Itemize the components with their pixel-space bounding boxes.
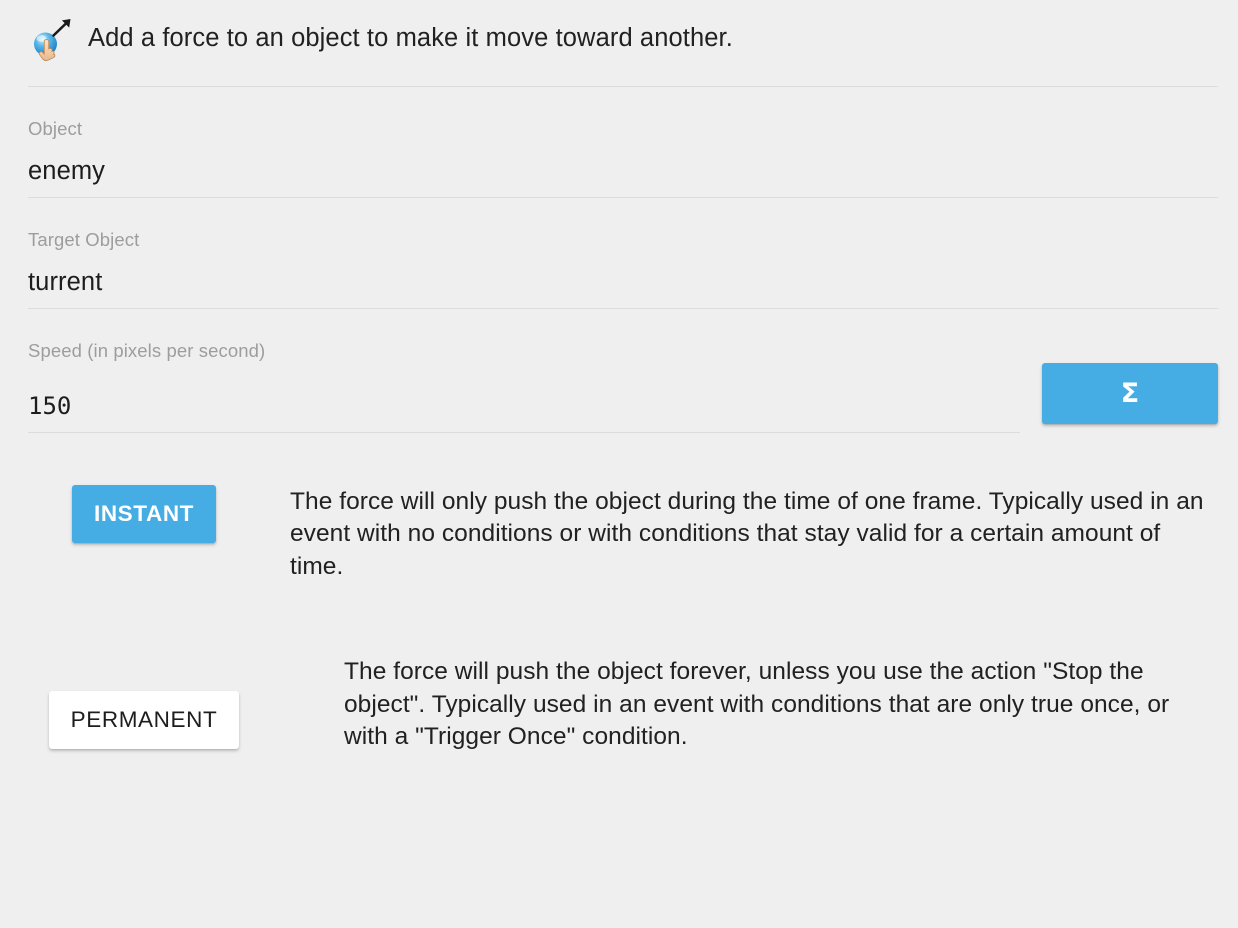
field-label-speed: Speed (in pixels per second) [28, 340, 1218, 362]
page-title: Add a force to an object to make it move… [88, 23, 733, 54]
object-input[interactable]: enemy [28, 140, 1218, 197]
field-label-target-object: Target Object [28, 229, 1218, 251]
field-speed: Speed (in pixels per second) 150 Σ [28, 309, 1218, 432]
dialog-header: Add a force to an object to make it move… [0, 0, 1238, 60]
sigma-icon[interactable]: Σ [1042, 363, 1218, 424]
form-fields: Object enemy Target Object turrent Speed… [0, 87, 1238, 433]
permanent-button[interactable]: PERMANENT [49, 691, 240, 749]
field-underline-speed [28, 432, 1020, 433]
permanent-description: The force will push the object forever, … [260, 655, 1218, 754]
speed-input[interactable]: 150 [28, 375, 1020, 432]
option-button-cell-permanent: PERMANENT [28, 691, 260, 749]
instant-button[interactable]: INSTANT [72, 485, 216, 543]
field-label-object: Object [28, 118, 1218, 140]
force-type-options: INSTANT The force will only push the obj… [0, 485, 1238, 754]
field-target-object: Target Object turrent [28, 198, 1218, 309]
target-object-input[interactable]: turrent [28, 251, 1218, 308]
option-button-cell-instant: INSTANT [28, 485, 260, 543]
force-toward-object-icon [28, 15, 74, 61]
field-object: Object enemy [28, 87, 1218, 198]
instant-description: The force will only push the object duri… [260, 485, 1218, 584]
option-row-instant: INSTANT The force will only push the obj… [28, 485, 1218, 584]
add-force-toward-object-dialog: Add a force to an object to make it move… [0, 0, 1238, 928]
option-row-permanent: PERMANENT The force will push the object… [28, 655, 1218, 754]
